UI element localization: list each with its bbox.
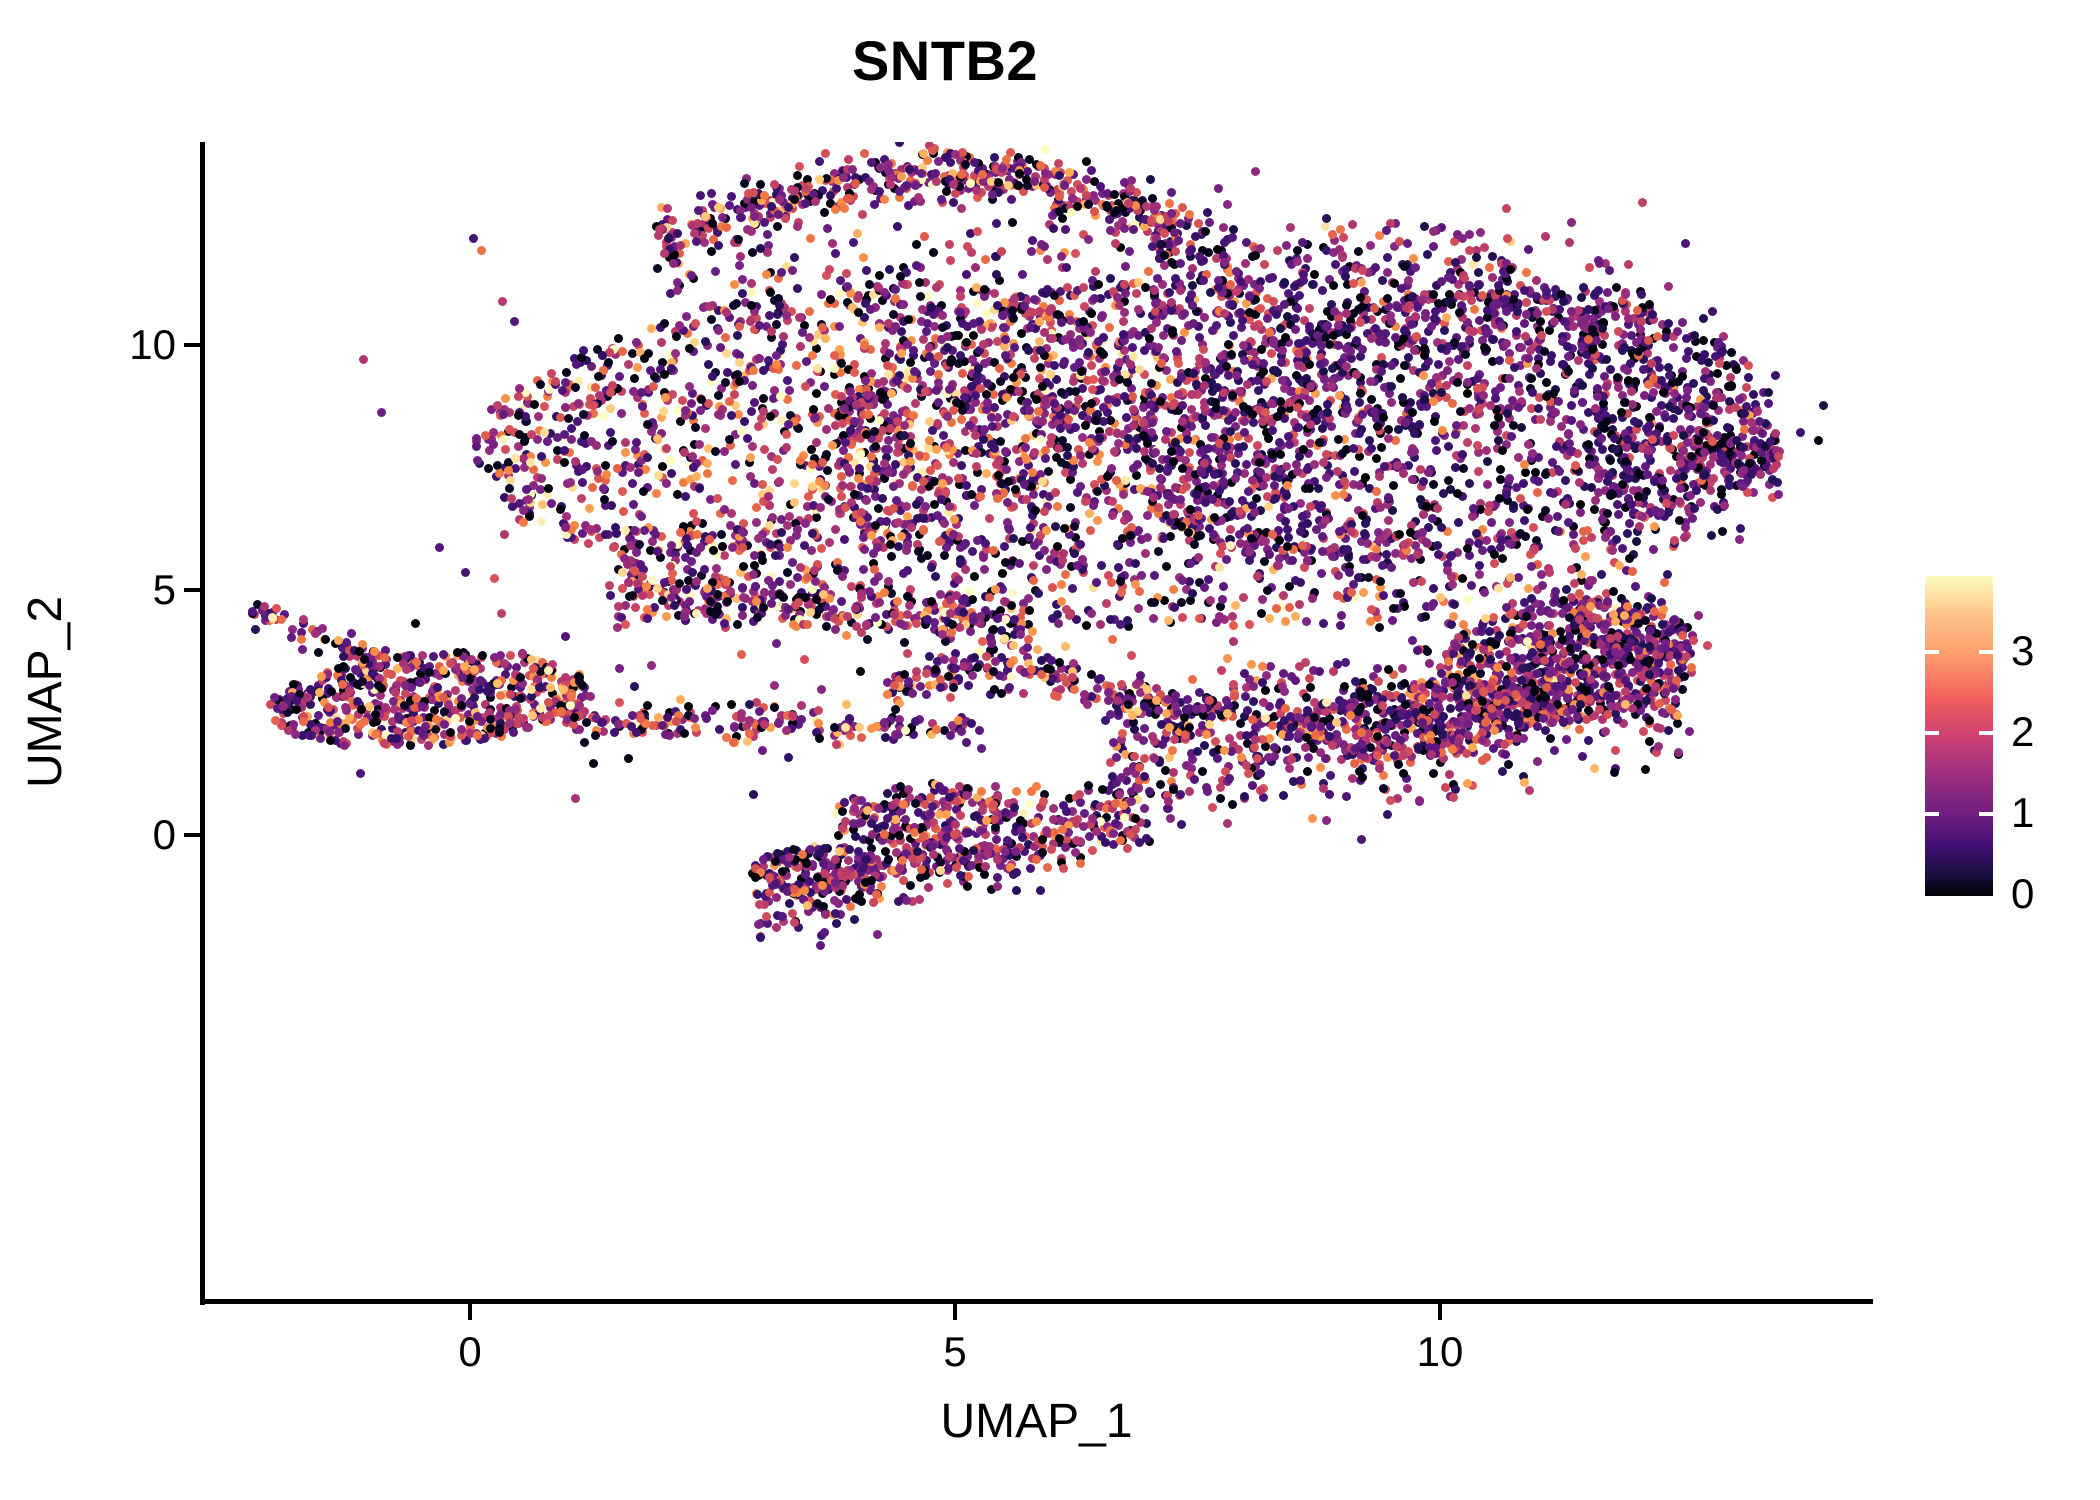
scatter-point (1653, 332, 1662, 341)
scatter-point (735, 358, 744, 367)
scatter-point (1176, 219, 1185, 228)
scatter-point (754, 422, 763, 431)
scatter-point (1541, 232, 1550, 241)
scatter-point (606, 428, 615, 437)
scatter-point (1577, 293, 1586, 302)
scatter-point (1240, 417, 1249, 426)
scatter-point (1094, 280, 1103, 289)
scatter-point (1514, 403, 1523, 412)
scatter-point (793, 171, 802, 180)
scatter-point (1536, 317, 1545, 326)
scatter-point (1429, 290, 1438, 299)
scatter-point (1236, 277, 1245, 286)
scatter-point (1043, 255, 1052, 264)
scatter-point (1075, 358, 1084, 367)
scatter-point (772, 320, 781, 329)
scatter-point (1134, 278, 1143, 287)
scatter-point (1713, 369, 1722, 378)
scatter-point (1169, 510, 1178, 519)
scatter-point (1521, 468, 1530, 477)
scatter-point (885, 265, 894, 274)
scatter-point (752, 503, 761, 512)
scatter-point (1151, 299, 1160, 308)
scatter-point (922, 327, 931, 336)
scatter-point (1165, 288, 1174, 297)
scatter-point (691, 319, 700, 328)
scatter-point (594, 372, 603, 381)
scatter-point (1322, 214, 1331, 223)
scatter-point (1739, 443, 1748, 452)
scatter-point (560, 458, 569, 467)
scatter-point (1631, 582, 1640, 591)
scatter-point (1542, 307, 1551, 316)
scatter-point (692, 472, 701, 481)
scatter-point (720, 551, 729, 560)
scatter-point (1559, 297, 1568, 306)
scatter-point (1328, 364, 1337, 373)
scatter-point (1735, 395, 1744, 404)
scatter-point (1706, 486, 1715, 495)
scatter-point (1433, 504, 1442, 513)
scatter-point (1474, 448, 1483, 457)
scatter-point (1264, 502, 1273, 511)
scatter-point (1488, 252, 1497, 261)
scatter-point (954, 359, 963, 368)
scatter-point (507, 494, 516, 503)
scatter-point (1022, 455, 1031, 464)
scatter-point (773, 455, 782, 464)
scatter-point (593, 467, 602, 476)
scatter-point (1708, 307, 1717, 316)
scatter-point (1302, 336, 1311, 345)
scatter-point (1753, 407, 1762, 416)
scatter-point (1170, 228, 1179, 237)
scatter-point (511, 454, 520, 463)
scatter-point (601, 461, 610, 470)
scatter-point (1328, 230, 1337, 239)
scatter-point (643, 453, 652, 462)
scatter-point (530, 400, 539, 409)
scatter-point (1065, 168, 1074, 177)
scatter-point (1774, 490, 1783, 499)
scatter-point (945, 240, 954, 249)
scatter-point (1424, 468, 1433, 477)
scatter-point (1490, 421, 1499, 430)
scatter-point (798, 328, 807, 337)
scatter-point (1006, 385, 1015, 394)
scatter-point (1079, 317, 1088, 326)
scatter-point (1484, 507, 1493, 516)
scatter-point (1454, 291, 1463, 300)
scatter-point (1552, 442, 1561, 451)
scatter-point (1494, 281, 1503, 290)
scatter-point (1317, 341, 1326, 350)
scatter-point (562, 368, 571, 377)
scatter-point (630, 374, 639, 383)
scatter-point (1186, 271, 1195, 280)
scatter-point (1087, 361, 1096, 370)
scatter-point (1051, 522, 1060, 531)
scatter-point (540, 402, 549, 411)
scatter-point (861, 299, 870, 308)
scatter-point (904, 315, 913, 324)
scatter-point (1053, 310, 1062, 319)
scatter-point (1218, 454, 1227, 463)
scatter-point (891, 460, 900, 469)
scatter-point (1624, 474, 1633, 483)
scatter-point (1434, 360, 1443, 369)
scatter-point (1040, 242, 1049, 251)
scatter-point (1156, 240, 1165, 249)
scatter-point (1474, 268, 1483, 277)
scatter-point (1489, 301, 1498, 310)
scatter-point (1009, 412, 1018, 421)
scatter-point (1171, 247, 1180, 256)
scatter-point (668, 216, 677, 225)
scatter-point (764, 492, 773, 501)
scatter-point (653, 264, 662, 273)
scatter-point (806, 234, 815, 243)
scatter-point (1352, 336, 1361, 345)
scatter-point (1399, 469, 1408, 478)
scatter-point (1140, 447, 1149, 456)
scatter-point (561, 378, 570, 387)
scatter-point (544, 484, 553, 493)
scatter-point (1177, 336, 1186, 345)
scatter-point (1001, 351, 1010, 360)
scatter-point (870, 200, 879, 209)
scatter-point (676, 241, 685, 250)
scatter-point (1366, 241, 1375, 250)
scatter-point (1157, 359, 1166, 368)
scatter-point (1764, 388, 1773, 397)
scatter-point (574, 399, 583, 408)
scatter-point (1301, 484, 1310, 493)
scatter-point (774, 210, 783, 219)
scatter-point (1622, 443, 1631, 452)
scatter-point (1503, 234, 1512, 243)
scatter-point (887, 389, 896, 398)
scatter-point (1709, 401, 1718, 410)
scatter-point (884, 166, 893, 175)
scatter-point (1678, 318, 1687, 327)
scatter-point (1030, 354, 1039, 363)
scatter-point (588, 483, 597, 492)
scatter-point (1605, 266, 1614, 275)
scatter-point (1520, 460, 1529, 469)
scatter-point (1546, 417, 1555, 426)
scatter-point (1569, 530, 1578, 539)
scatter-point (1250, 322, 1259, 331)
scatter-point (824, 404, 833, 413)
scatter-point (891, 322, 900, 331)
scatter-point (1215, 366, 1224, 375)
scatter-point (912, 261, 921, 270)
scatter-point (1167, 209, 1176, 218)
scatter-point (1168, 401, 1177, 410)
scatter-point (1086, 526, 1095, 535)
scatter-point (1419, 510, 1428, 519)
scatter-point (849, 238, 858, 247)
scatter-point (1602, 382, 1611, 391)
scatter-point (1148, 242, 1157, 251)
scatter-point (1387, 398, 1396, 407)
scatter-point (578, 478, 587, 487)
scatter-point (1071, 387, 1080, 396)
scatter-point (907, 523, 916, 532)
scatter-point (1747, 470, 1756, 479)
scatter-point (938, 323, 947, 332)
scatter-point (1057, 252, 1066, 261)
scatter-point (1318, 286, 1327, 295)
scatter-point (1676, 459, 1685, 468)
scatter-point (681, 406, 690, 415)
scatter-point (883, 361, 892, 370)
scatter-point (1523, 505, 1532, 514)
scatter-point (577, 494, 586, 503)
scatter-point (919, 149, 928, 158)
scatter-point (1620, 398, 1629, 407)
scatter-point (579, 410, 588, 419)
scatter-point (1306, 382, 1315, 391)
scatter-point (909, 411, 918, 420)
scatter-point (1093, 516, 1102, 525)
scatter-point (501, 445, 510, 454)
scatter-point (946, 256, 955, 265)
scatter-point (837, 472, 846, 481)
scatter-point (858, 210, 867, 219)
scatter-point (1203, 208, 1212, 217)
scatter-point (1673, 327, 1682, 336)
scatter-point (1124, 199, 1133, 208)
scatter-point (1660, 578, 1669, 587)
scatter-point (942, 443, 951, 452)
scatter-point (1262, 377, 1271, 386)
scatter-point (1429, 227, 1438, 236)
scatter-point (1318, 532, 1327, 541)
scatter-point (790, 186, 799, 195)
scatter-point (1278, 376, 1287, 385)
scatter-point (1343, 545, 1352, 554)
scatter-point (1199, 345, 1208, 354)
scatter-point (1229, 225, 1238, 234)
scatter-point (666, 456, 675, 465)
scatter-point (1228, 300, 1237, 309)
scatter-point (795, 313, 804, 322)
scatter-point (659, 407, 668, 416)
scatter-point (831, 205, 840, 214)
scatter-point (1269, 297, 1278, 306)
scatter-point (988, 190, 997, 199)
scatter-point (1045, 307, 1054, 316)
scatter-point (1593, 384, 1602, 393)
scatter-point (1172, 347, 1181, 356)
scatter-point (1531, 468, 1540, 477)
scatter-point (1661, 413, 1670, 422)
scatter-point (1495, 356, 1504, 365)
scatter-point (602, 470, 611, 479)
scatter-point (1081, 421, 1090, 430)
scatter-point (1314, 484, 1323, 493)
scatter-point (1228, 391, 1237, 400)
scatter-point (553, 433, 562, 442)
scatter-point (1281, 333, 1290, 342)
scatter-point (1585, 263, 1594, 272)
scatter-point (703, 469, 712, 478)
scatter-point (1066, 503, 1075, 512)
scatter-point (775, 301, 784, 310)
scatter-point (1002, 393, 1011, 402)
scatter-point (737, 427, 746, 436)
scatter-point (1200, 459, 1209, 468)
scatter-point (1444, 297, 1453, 306)
scatter-point (765, 521, 774, 530)
scatter-point (1699, 336, 1708, 345)
scatter-point (859, 253, 868, 262)
scatter-point (830, 351, 839, 360)
scatter-point (1115, 358, 1124, 367)
scatter-point (1050, 361, 1059, 370)
scatter-point (1644, 446, 1653, 455)
scatter-point (1020, 302, 1029, 311)
scatter-point (649, 382, 658, 391)
scatter-point (1110, 190, 1119, 199)
scatter-point (1544, 514, 1553, 523)
scatter-point (707, 315, 716, 324)
scatter-point (1085, 509, 1094, 518)
scatter-point (1461, 350, 1470, 359)
scatter-point (943, 343, 952, 352)
scatter-point (1299, 270, 1308, 279)
scatter-point (851, 179, 860, 188)
scatter-point (1302, 413, 1311, 422)
scatter-point (1656, 508, 1665, 517)
scatter-point (1276, 324, 1285, 333)
scatter-point (1315, 438, 1324, 447)
scatter-point (1553, 512, 1562, 521)
scatter-point (906, 358, 915, 367)
scatter-point (760, 191, 769, 200)
scatter-point (1549, 489, 1558, 498)
scatter-point (817, 290, 826, 299)
scatter-point (994, 178, 1003, 187)
scatter-point (1513, 307, 1522, 316)
scatter-point (1225, 497, 1234, 506)
scatter-point (1121, 476, 1130, 485)
scatter-point (1380, 462, 1389, 471)
scatter-point (902, 502, 911, 511)
scatter-point (937, 495, 946, 504)
scatter-point (1168, 326, 1177, 335)
scatter-point (1607, 489, 1616, 498)
scatter-point (599, 484, 608, 493)
scatter-point (1310, 460, 1319, 469)
scatter-point (1017, 329, 1026, 338)
scatter-point (1041, 454, 1050, 463)
scatter-point (1498, 446, 1507, 455)
scatter-point (882, 517, 891, 526)
scatter-point (880, 459, 889, 468)
scatter-point (783, 376, 792, 385)
scatter-point (1178, 417, 1187, 426)
scatter-point (1084, 200, 1093, 209)
scatter-point (776, 392, 785, 401)
scatter-point (889, 504, 898, 513)
scatter-point (932, 386, 941, 395)
scatter-plot-area[interactable] (203, 142, 1873, 1302)
scatter-point (1745, 459, 1754, 468)
scatter-point (1588, 345, 1597, 354)
scatter-point (1103, 472, 1112, 481)
scatter-point (998, 311, 1007, 320)
scatter-point (703, 459, 712, 468)
scatter-point (1007, 195, 1016, 204)
scatter-point (1456, 407, 1465, 416)
scatter-point (1223, 200, 1232, 209)
scatter-point (1334, 321, 1343, 330)
scatter-point (1321, 222, 1330, 231)
scatter-point (1372, 487, 1381, 496)
scatter-point (1475, 316, 1484, 325)
scatter-point (606, 404, 615, 413)
scatter-point (1357, 278, 1366, 287)
scatter-point (897, 172, 906, 181)
scatter-point (1002, 155, 1011, 164)
scatter-point (1618, 346, 1627, 355)
scatter-point (738, 275, 747, 284)
scatter-point (1349, 444, 1358, 453)
scatter-point (484, 464, 493, 473)
scatter-point (713, 494, 722, 503)
scatter-point (925, 417, 934, 426)
scatter-point (695, 484, 704, 493)
scatter-point (1367, 395, 1376, 404)
scatter-point (1129, 421, 1138, 430)
scatter-point (1254, 386, 1263, 395)
scatter-point (1714, 338, 1723, 347)
scatter-point (736, 213, 745, 222)
scatter-point (815, 175, 824, 184)
scatter-point (970, 158, 979, 167)
scatter-point (1261, 408, 1270, 417)
scatter-point (1774, 452, 1783, 461)
scatter-point (1335, 391, 1344, 400)
scatter-point (823, 466, 832, 475)
scatter-point (1383, 294, 1392, 303)
scatter-point (1160, 229, 1169, 238)
scatter-point (822, 425, 831, 434)
scatter-point (1366, 377, 1375, 386)
scatter-point (1220, 238, 1229, 247)
scatter-point (691, 423, 700, 432)
scatter-point (997, 247, 1006, 256)
scatter-point (586, 525, 595, 534)
scatter-point (973, 299, 982, 308)
scatter-point (1255, 284, 1264, 293)
scatter-point (992, 270, 1001, 279)
scatter-point (519, 518, 528, 527)
scatter-point (1418, 295, 1427, 304)
scatter-point (1021, 443, 1030, 452)
scatter-point (689, 463, 698, 472)
scatter-point (1636, 325, 1645, 334)
scatter-point (980, 425, 989, 434)
scatter-point (934, 398, 943, 407)
scatter-point (1099, 403, 1108, 412)
scatter-point (1350, 467, 1359, 476)
scatter-point (881, 339, 890, 348)
scatter-point (714, 241, 723, 250)
